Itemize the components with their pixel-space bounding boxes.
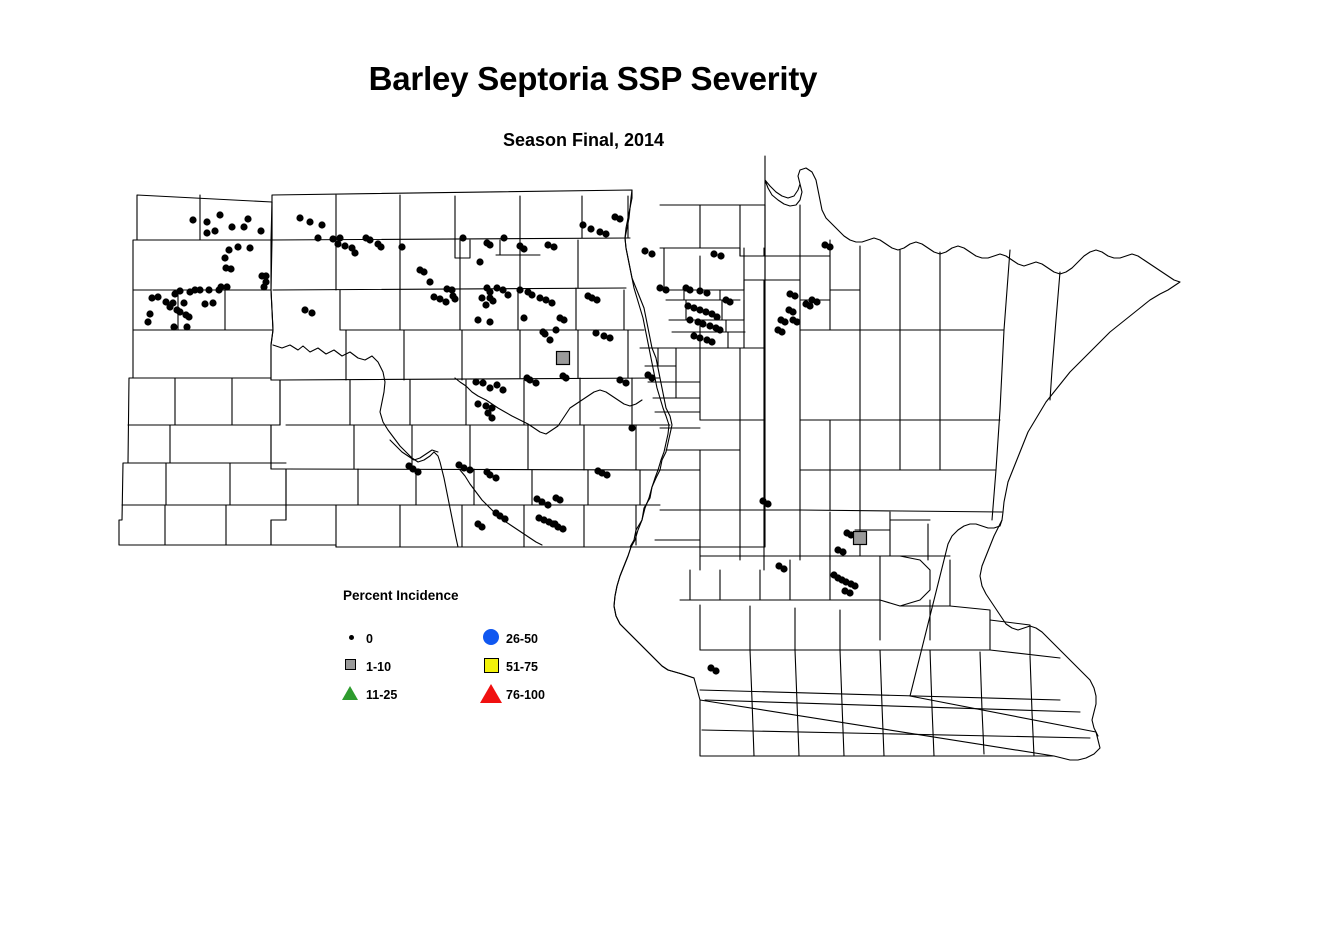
- site-marker: [532, 379, 539, 386]
- site-marker: [296, 214, 303, 221]
- site-marker: [713, 313, 720, 320]
- site-marker: [478, 294, 485, 301]
- site-marker: [148, 294, 155, 301]
- site-marker: [185, 313, 192, 320]
- site-marker: [562, 374, 569, 381]
- site-marker: [201, 300, 208, 307]
- site-marker: [170, 323, 177, 330]
- site-marker: [587, 225, 594, 232]
- montana-outline: [119, 195, 286, 545]
- legend: Percent Incidence 0 1-10 11-25 26-50: [330, 585, 590, 710]
- county-line: [880, 650, 882, 706]
- site-marker: [504, 291, 511, 298]
- site-marker: [492, 474, 499, 481]
- legend-label: 76-100: [506, 688, 545, 702]
- site-marker: [466, 466, 473, 473]
- site-marker: [366, 236, 373, 243]
- site-marker: [780, 565, 787, 572]
- minnesota-boundaries: [614, 156, 1180, 760]
- lake-of-the-woods-shore: [765, 180, 800, 198]
- site-marker: [260, 283, 267, 290]
- site-marker: [486, 318, 493, 325]
- site-marker: [336, 234, 343, 241]
- site-marker: [196, 286, 203, 293]
- site-marker: [186, 288, 193, 295]
- green-triangle-icon: [340, 681, 366, 707]
- yellow-square-icon: [480, 653, 506, 679]
- site-marker: [641, 247, 648, 254]
- legend-title: Percent Incidence: [343, 588, 459, 603]
- site-marker: [696, 334, 703, 341]
- site-marker: [221, 254, 228, 261]
- site-marker: [154, 293, 161, 300]
- site-marker: [180, 299, 187, 306]
- site-marker: [146, 310, 153, 317]
- site-marker: [851, 582, 858, 589]
- site-marker: [228, 223, 235, 230]
- site-marker: [476, 258, 483, 265]
- site-marker: [548, 299, 555, 306]
- site-marker: [486, 384, 493, 391]
- site-marker: [616, 215, 623, 222]
- site-marker: [314, 234, 321, 241]
- site-marker: [500, 234, 507, 241]
- county-line: [992, 250, 1010, 520]
- site-marker: [789, 308, 796, 315]
- site-marker: [622, 379, 629, 386]
- legend-label: 51-75: [506, 660, 538, 674]
- site-marker: [426, 278, 433, 285]
- site-marker: [593, 296, 600, 303]
- site-marker: [520, 314, 527, 321]
- site-marker: [546, 336, 553, 343]
- site-marker: [414, 468, 421, 475]
- site-marker: [244, 215, 251, 222]
- site-marker: [474, 400, 481, 407]
- county-line: [750, 650, 752, 700]
- site-marker: [420, 268, 427, 275]
- site-marker: [499, 386, 506, 393]
- site-marker: [479, 379, 486, 386]
- site-marker: [778, 328, 785, 335]
- site-marker: [628, 424, 635, 431]
- site-marker: [806, 302, 813, 309]
- county-line: [990, 620, 1030, 655]
- site-marker: [516, 286, 523, 293]
- county-line: [795, 650, 797, 702]
- site-marker: [398, 243, 405, 250]
- site-marker: [602, 230, 609, 237]
- site-marker: [541, 330, 548, 337]
- site-marker: [826, 243, 833, 250]
- county-line: [280, 378, 660, 380]
- site-marker: [377, 243, 384, 250]
- site-marker: [216, 211, 223, 218]
- legend-label: 26-50: [506, 632, 538, 646]
- site-marker: [459, 234, 466, 241]
- site-marker: [717, 252, 724, 259]
- site-marker: [472, 378, 479, 385]
- minnesota-outline: [614, 156, 1180, 760]
- site-marker: [699, 320, 706, 327]
- county-line: [765, 205, 800, 280]
- site-marker: [544, 501, 551, 508]
- site-marker-low: [854, 532, 867, 545]
- site-marker: [234, 243, 241, 250]
- site-marker: [227, 265, 234, 272]
- site-marker: [246, 244, 253, 251]
- county-line: [1032, 712, 1034, 756]
- blue-circle-icon: [480, 625, 506, 651]
- site-marker: [839, 548, 846, 555]
- mississippi-border: [980, 520, 1098, 736]
- site-marker: [520, 245, 527, 252]
- site-marker: [308, 309, 315, 316]
- site-marker: [257, 227, 264, 234]
- site-marker: [556, 496, 563, 503]
- site-marker: [606, 334, 613, 341]
- site-marker: [171, 290, 178, 297]
- map-page: Barley Septoria SSP Severity Season Fina…: [0, 0, 1341, 926]
- site-marker: [203, 229, 210, 236]
- site-marker: [318, 221, 325, 228]
- site-marker: [726, 298, 733, 305]
- site-marker: [846, 589, 853, 596]
- site-marker: [550, 243, 557, 250]
- county-line: [272, 238, 630, 240]
- missouri-river-lower: [460, 470, 542, 545]
- metro-county: [880, 556, 930, 606]
- site-marker: [448, 286, 455, 293]
- site-marker: [306, 218, 313, 225]
- county-line: [982, 710, 984, 754]
- site-marker: [501, 515, 508, 522]
- county-line: [286, 469, 668, 470]
- site-marker: [781, 318, 788, 325]
- site-marker: [579, 221, 586, 228]
- county-line: [932, 708, 934, 756]
- site-marker: [474, 316, 481, 323]
- legend-label: 0: [366, 632, 373, 646]
- legend-label: 1-10: [366, 660, 391, 674]
- site-marker: [703, 289, 710, 296]
- north-dakota-outline: [271, 190, 672, 547]
- site-marker: [603, 471, 610, 478]
- county-line: [1050, 272, 1060, 400]
- site-marker: [341, 242, 348, 249]
- site-marker: [813, 298, 820, 305]
- site-marker: [486, 241, 493, 248]
- site-marker: [648, 250, 655, 257]
- site-marker: [240, 223, 247, 230]
- site-marker: [451, 295, 458, 302]
- site-marker: [560, 316, 567, 323]
- gray-square-icon: [340, 653, 366, 679]
- site-marker: [648, 374, 655, 381]
- county-line: [950, 606, 990, 650]
- site-marker: [183, 323, 190, 330]
- site-marker: [493, 381, 500, 388]
- legend-label: 11-25: [366, 688, 397, 702]
- site-marker: [686, 286, 693, 293]
- county-line: [664, 280, 764, 290]
- county-line: [840, 650, 842, 704]
- site-marker: [209, 299, 216, 306]
- site-marker: [528, 291, 535, 298]
- site-marker: [559, 525, 566, 532]
- county-line: [882, 706, 884, 756]
- small-black-dot-icon: [340, 625, 366, 651]
- site-marker: [203, 218, 210, 225]
- site-marker: [793, 318, 800, 325]
- county-line: [455, 240, 470, 258]
- site-marker: [442, 298, 449, 305]
- site-marker: [791, 292, 798, 299]
- site-marker: [712, 667, 719, 674]
- site-marker: [189, 216, 196, 223]
- site-marker: [144, 318, 151, 325]
- site-marker: [225, 246, 232, 253]
- site-marker: [662, 286, 669, 293]
- site-marker: [351, 249, 358, 256]
- site-marker: [696, 287, 703, 294]
- site-marker: [764, 500, 771, 507]
- site-marker: [215, 286, 222, 293]
- county-line: [1030, 656, 1032, 712]
- site-marker: [686, 316, 693, 323]
- site-marker-low: [557, 352, 570, 365]
- county-line: [980, 652, 982, 710]
- site-marker: [478, 523, 485, 530]
- site-marker: [166, 303, 173, 310]
- missouri-river: [273, 345, 458, 547]
- site-markers-1-10: [557, 352, 867, 545]
- red-triangle-icon: [480, 681, 506, 707]
- county-line: [797, 702, 799, 756]
- site-marker: [205, 286, 212, 293]
- county-line: [700, 690, 1060, 700]
- site-marker: [489, 297, 496, 304]
- site-marker: [708, 338, 715, 345]
- red-river-boundary: [614, 190, 694, 678]
- county-line: [930, 650, 932, 708]
- site-marker: [552, 326, 559, 333]
- site-marker: [592, 329, 599, 336]
- county-line: [842, 704, 844, 756]
- site-marker: [482, 301, 489, 308]
- site-marker: [301, 306, 308, 313]
- site-marker: [710, 250, 717, 257]
- county-line: [990, 650, 1060, 658]
- severity-map: [0, 0, 1341, 926]
- site-marker: [716, 326, 723, 333]
- site-marker: [488, 414, 495, 421]
- site-marker: [211, 227, 218, 234]
